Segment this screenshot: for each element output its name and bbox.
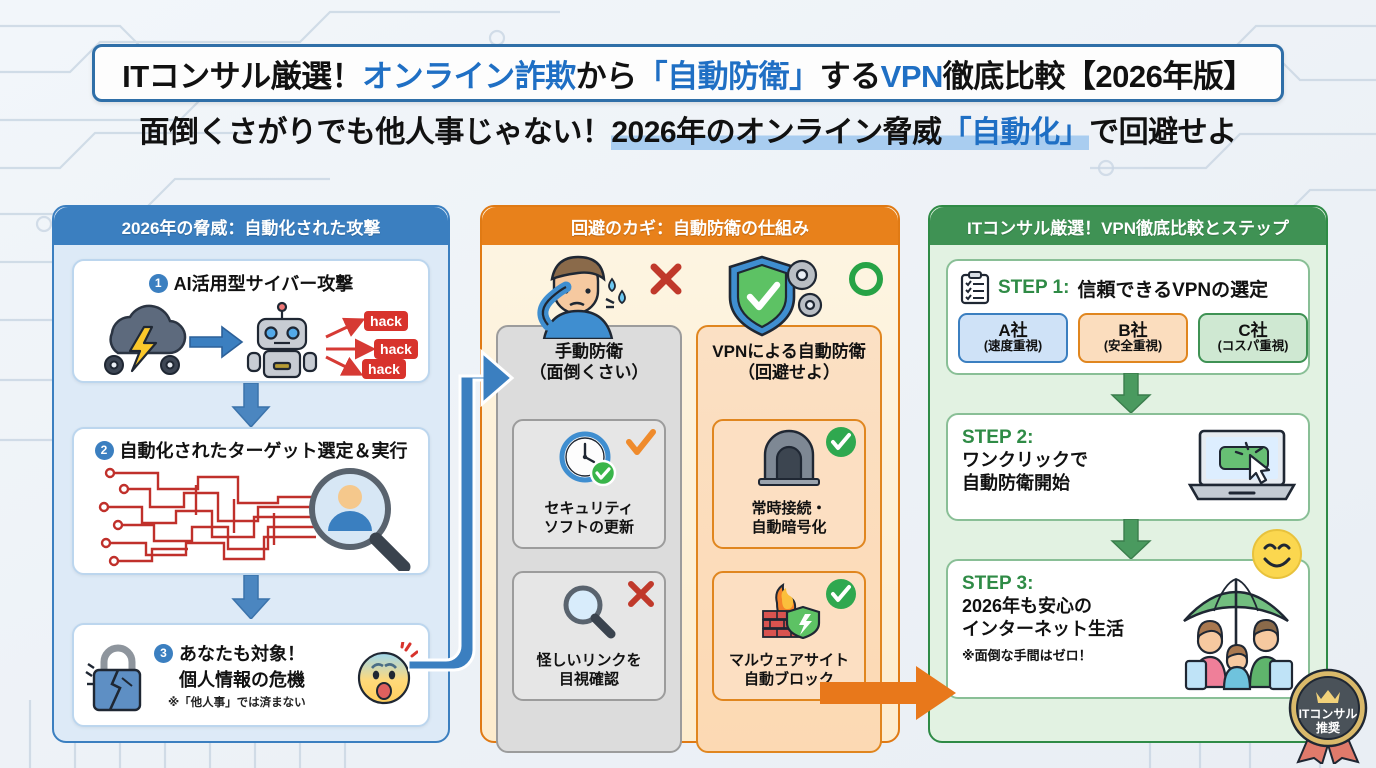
- vpn-item-1-label: 常時接続・ 自動暗号化: [714, 499, 864, 537]
- column-vpn-title-l1: VPNによる自動防衛: [712, 342, 865, 361]
- clipboard-icon: [960, 271, 990, 305]
- cross-mark-icon: [646, 259, 686, 299]
- vpn-item-1-label-l2: 自動暗号化: [714, 518, 864, 537]
- step-1-title: 信頼できるVPNの選定: [1077, 275, 1268, 302]
- vendor-b-name: B社: [1118, 322, 1147, 341]
- title-accent-1: オンライン詐欺: [362, 59, 576, 94]
- manual-item-2-label-l2: 目視確認: [514, 670, 664, 689]
- threat-card-2-number: 2: [95, 441, 114, 460]
- threat-card-3-line1: あなたも対象！: [179, 640, 305, 666]
- column-vpn-title-l2: （回避せよ）: [698, 362, 880, 383]
- step-1-header: STEP 1: 信頼できるVPNの選定: [960, 271, 1268, 305]
- subtitle-row: 面倒くさがりでも他人事じゃない！2026年のオンライン脅威「自動化」で回避せよ: [0, 114, 1376, 152]
- step-3-line1: 2026年も安心の: [962, 595, 1124, 618]
- threat-card-3-number: 3: [154, 644, 173, 663]
- vendor-a[interactable]: A社 (速度重視): [958, 313, 1068, 363]
- threat-card-2: 2 自動化されたターゲット選定＆実行: [72, 427, 430, 575]
- magnifier-icon: [553, 581, 625, 639]
- magnifier-person-icon: [312, 471, 404, 567]
- step-1-card: STEP 1: 信頼できるVPNの選定 A社 (速度重視) B社 (安全重視) …: [946, 259, 1310, 375]
- step-2-label: STEP 2:: [962, 427, 1088, 449]
- robot-icon: [248, 303, 316, 377]
- smiley-icon: [1250, 527, 1304, 581]
- svg-text:hack: hack: [368, 361, 400, 377]
- threat-card-1-illustration: hack hack hack: [82, 293, 424, 379]
- manual-item-2: 怪しいリンクを 目視確認: [512, 571, 666, 701]
- manual-item-1-label: セキュリティ ソフトの更新: [514, 499, 664, 537]
- vendor-c[interactable]: C社 (コスパ重視): [1198, 313, 1308, 363]
- vendor-a-sub: (速度重視): [984, 340, 1042, 354]
- step-flow-arrow-2: [1110, 519, 1152, 559]
- vendor-c-sub: (コスパ重視): [1218, 340, 1289, 354]
- subtitle-part-1: 面倒くさがりでも他人事じゃない！: [139, 116, 611, 149]
- threat-card-3-note: ※「他人事」では済まない: [154, 694, 352, 710]
- step-flow-arrow-1: [1110, 373, 1152, 413]
- check-green-icon: [824, 577, 858, 611]
- firewall-icon: [753, 581, 825, 639]
- threat-flow-arrow-2: [231, 575, 271, 619]
- title-part-4: 徹底比較【2026年版】: [943, 59, 1254, 94]
- threat-card-1: 1 AI活用型サイバー攻撃: [72, 259, 430, 383]
- vendor-b-sub: (安全重視): [1104, 340, 1162, 354]
- vendor-c-name: C社: [1238, 322, 1267, 341]
- svg-text:hack: hack: [370, 313, 402, 329]
- threat-card-2-illustration: [88, 463, 418, 571]
- step-3-line2: インターネット生活: [962, 618, 1124, 641]
- main-title-box: ITコンサル厳選！オンライン詐欺から「自動防衛」するVPN徹底比較【2026年版…: [92, 44, 1284, 102]
- threat-card-2-title: 自動化されたターゲット選定＆実行: [120, 437, 408, 463]
- step-2-text: STEP 2: ワンクリックで 自動防衛開始: [962, 427, 1088, 496]
- clock-icon: [553, 429, 625, 487]
- threat-card-1-number: 1: [149, 274, 168, 293]
- connector-key-to-steps: [820, 660, 960, 730]
- threat-flow-arrow-1: [231, 383, 271, 427]
- subtitle-part-2: で回避せよ: [1089, 116, 1237, 149]
- badge-line1: ITコンサル: [1299, 707, 1358, 721]
- subtitle: 面倒くさがりでも他人事じゃない！2026年のオンライン脅威「自動化」で回避せよ: [139, 114, 1236, 152]
- connector-threat-to-key: [408, 330, 518, 700]
- column-vpn-title: VPNによる自動防衛 （回避せよ）: [698, 341, 880, 384]
- step-2-card: STEP 2: ワンクリックで 自動防衛開始: [946, 413, 1310, 521]
- panel-steps-header: ITコンサル厳選！VPN徹底比較とステップ: [930, 207, 1326, 245]
- column-manual-defense: 手動防衛 （面倒くさい） セキュリティ: [496, 325, 682, 753]
- circuit-nodes: [100, 469, 128, 565]
- tired-person-icon: [518, 253, 638, 339]
- manual-item-1: セキュリティ ソフトの更新: [512, 419, 666, 549]
- title-accent-3: VPN: [881, 59, 943, 94]
- panel-steps-body: STEP 1: 信頼できるVPNの選定 A社 (速度重視) B社 (安全重視) …: [930, 245, 1326, 741]
- check-green-icon: [824, 425, 858, 459]
- panel-threat-body: 1 AI活用型サイバー攻撃: [54, 245, 448, 741]
- step-2-line1: ワンクリックで: [962, 449, 1088, 472]
- threat-card-2-title-row: 2 自動化されたターゲット選定＆実行: [74, 437, 428, 463]
- column-manual-title-l2: （面倒くさい）: [498, 362, 680, 383]
- tunnel-icon: [753, 429, 825, 487]
- title-part-2: から: [576, 59, 637, 94]
- step-3-label: STEP 3:: [962, 573, 1124, 595]
- title-accent-2: 「自動防衛」: [637, 59, 820, 94]
- manual-item-1-label-l1: セキュリティ: [514, 499, 664, 518]
- column-manual-title: 手動防衛 （面倒くさい）: [498, 341, 680, 384]
- panel-key-header: 回避のカギ：自動防衛の仕組み: [482, 207, 898, 245]
- circle-mark-icon: [846, 259, 886, 299]
- manual-item-1-label-l2: ソフトの更新: [514, 518, 664, 537]
- vendor-b[interactable]: B社 (安全重視): [1078, 313, 1188, 363]
- threat-card-3-text: 3 あなたも対象！ 個人情報の危機 ※「他人事」では済まない: [154, 640, 352, 710]
- circuit-trace-icon: [104, 473, 316, 561]
- threat-card-3: 3 あなたも対象！ 個人情報の危機 ※「他人事」では済まない: [72, 623, 430, 727]
- manual-item-2-label: 怪しいリンクを 目視確認: [514, 651, 664, 689]
- threat-card-3-line2: 個人情報の危機: [154, 666, 352, 692]
- vendor-row: A社 (速度重視) B社 (安全重視) C社 (コスパ重視): [958, 313, 1308, 363]
- shield-gear-icon: [710, 253, 830, 339]
- blue-arrow-icon: [190, 327, 242, 357]
- panel-threat-header: 2026年の脅威：自動化された攻撃: [54, 207, 448, 245]
- threat-card-3-line1-row: 3 あなたも対象！: [154, 640, 352, 666]
- badge-line2: 推奨: [1316, 720, 1341, 735]
- step-1-label: STEP 1:: [998, 277, 1069, 299]
- broken-lock-icon: [84, 638, 150, 712]
- cloud-lightning-icon: [105, 306, 185, 374]
- title-part-3: する: [820, 59, 881, 94]
- column-manual-title-l1: 手動防衛: [555, 342, 623, 361]
- vendor-a-name: A社: [998, 322, 1027, 341]
- step-3-text: STEP 3: 2026年も安心の インターネット生活 ※面倒な手間はゼロ！: [962, 573, 1124, 664]
- laptop-click-icon: [1186, 427, 1298, 511]
- main-title: ITコンサル厳選！オンライン詐欺から「自動防衛」するVPN徹底比較【2026年版…: [122, 51, 1254, 96]
- check-orange-icon: [624, 425, 658, 459]
- step-2-line2: 自動防衛開始: [962, 472, 1088, 495]
- title-part-1: ITコンサル厳選！: [122, 59, 362, 94]
- panel-threat: 2026年の脅威：自動化された攻撃 1 AI活用型サイバー攻撃: [52, 205, 450, 743]
- subtitle-highlight-accent: 「自動化」: [942, 116, 1090, 151]
- vpn-item-1: 常時接続・ 自動暗号化: [712, 419, 866, 549]
- panel-steps: ITコンサル厳選！VPN徹底比較とステップ STEP 1: 信頼できるVPNの選…: [928, 205, 1328, 743]
- step-3-note: ※面倒な手間はゼロ！: [962, 645, 1124, 664]
- manual-item-2-label-l1: 怪しいリンクを: [514, 651, 664, 670]
- cross-red-icon: [624, 577, 658, 611]
- vpn-item-1-label-l1: 常時接続・: [714, 499, 864, 518]
- step-3-card: STEP 3: 2026年も安心の インターネット生活 ※面倒な手間はゼロ！: [946, 559, 1310, 699]
- subtitle-highlight-1: 2026年のオンライン脅威: [611, 116, 941, 151]
- it-consultant-badge: ITコンサル 推奨: [1284, 664, 1372, 764]
